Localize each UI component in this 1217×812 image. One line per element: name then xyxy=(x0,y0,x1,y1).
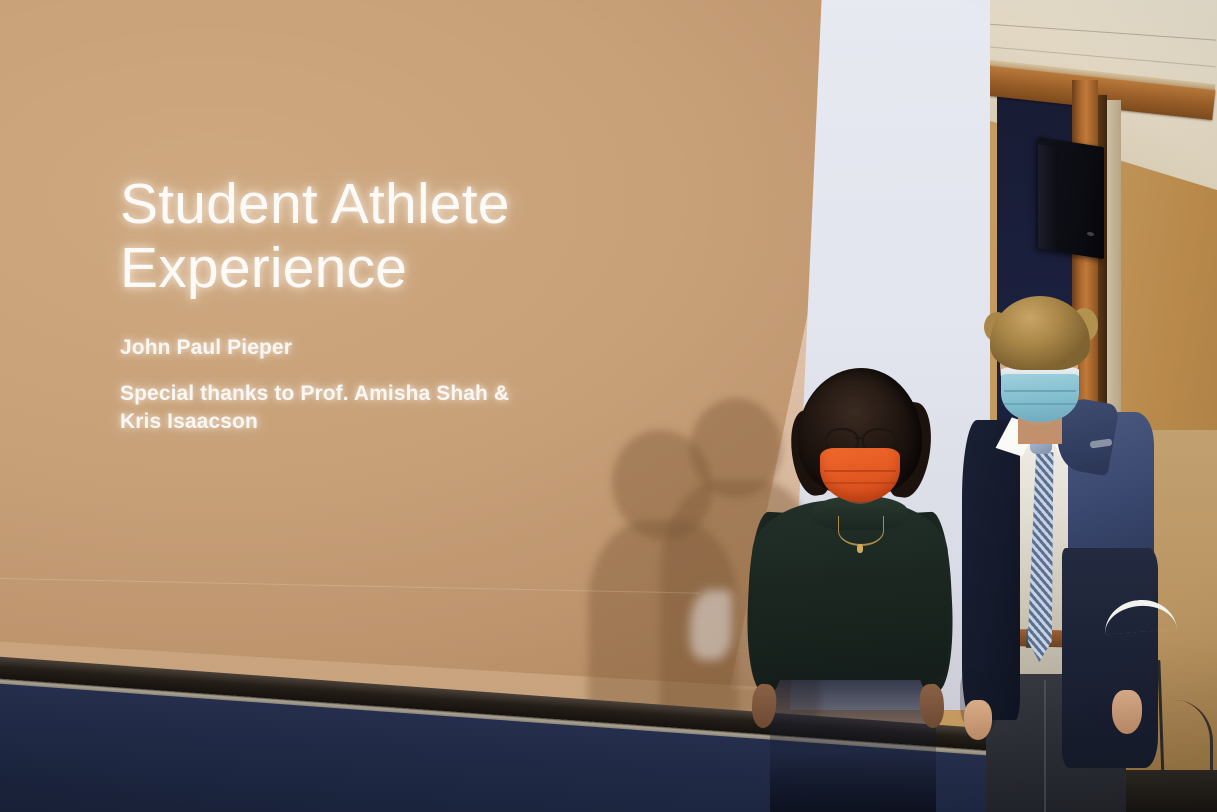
wall-speaker-face xyxy=(1038,144,1058,251)
slide-title-line-2: Experience xyxy=(120,236,640,300)
presenter-right-mask-fold-2 xyxy=(1004,403,1076,405)
presenter-right-jacket-lower xyxy=(1062,548,1158,768)
presenter-right-hand-right xyxy=(1112,690,1142,734)
presenter-right-hand-left xyxy=(964,700,992,740)
presenter-left-pendant xyxy=(857,544,863,553)
presenter-left-mask-fold-2 xyxy=(824,482,896,484)
presenter-shadow-gap xyxy=(690,590,732,660)
slide-content: Student Athlete Experience John Paul Pie… xyxy=(120,172,640,436)
slide-title-line-1: Student Athlete xyxy=(120,172,640,236)
presenter-left-mask-fold-1 xyxy=(824,470,896,472)
slide-title: Student Athlete Experience xyxy=(120,172,640,300)
presenter-left-necklace xyxy=(838,516,884,546)
presenter-right-mask-fold-1 xyxy=(1004,390,1076,392)
presenter-left-legs xyxy=(770,660,936,812)
slide-author: John Paul Pieper xyxy=(120,336,640,360)
lecture-room-photo: Student Athlete Experience John Paul Pie… xyxy=(0,0,1217,812)
slide-acknowledgement: Special thanks to Prof. Amisha Shah & Kr… xyxy=(120,380,540,436)
presenter-right-trouser-crease xyxy=(1044,680,1046,812)
presenter-left-glasses-bridge xyxy=(855,437,863,439)
